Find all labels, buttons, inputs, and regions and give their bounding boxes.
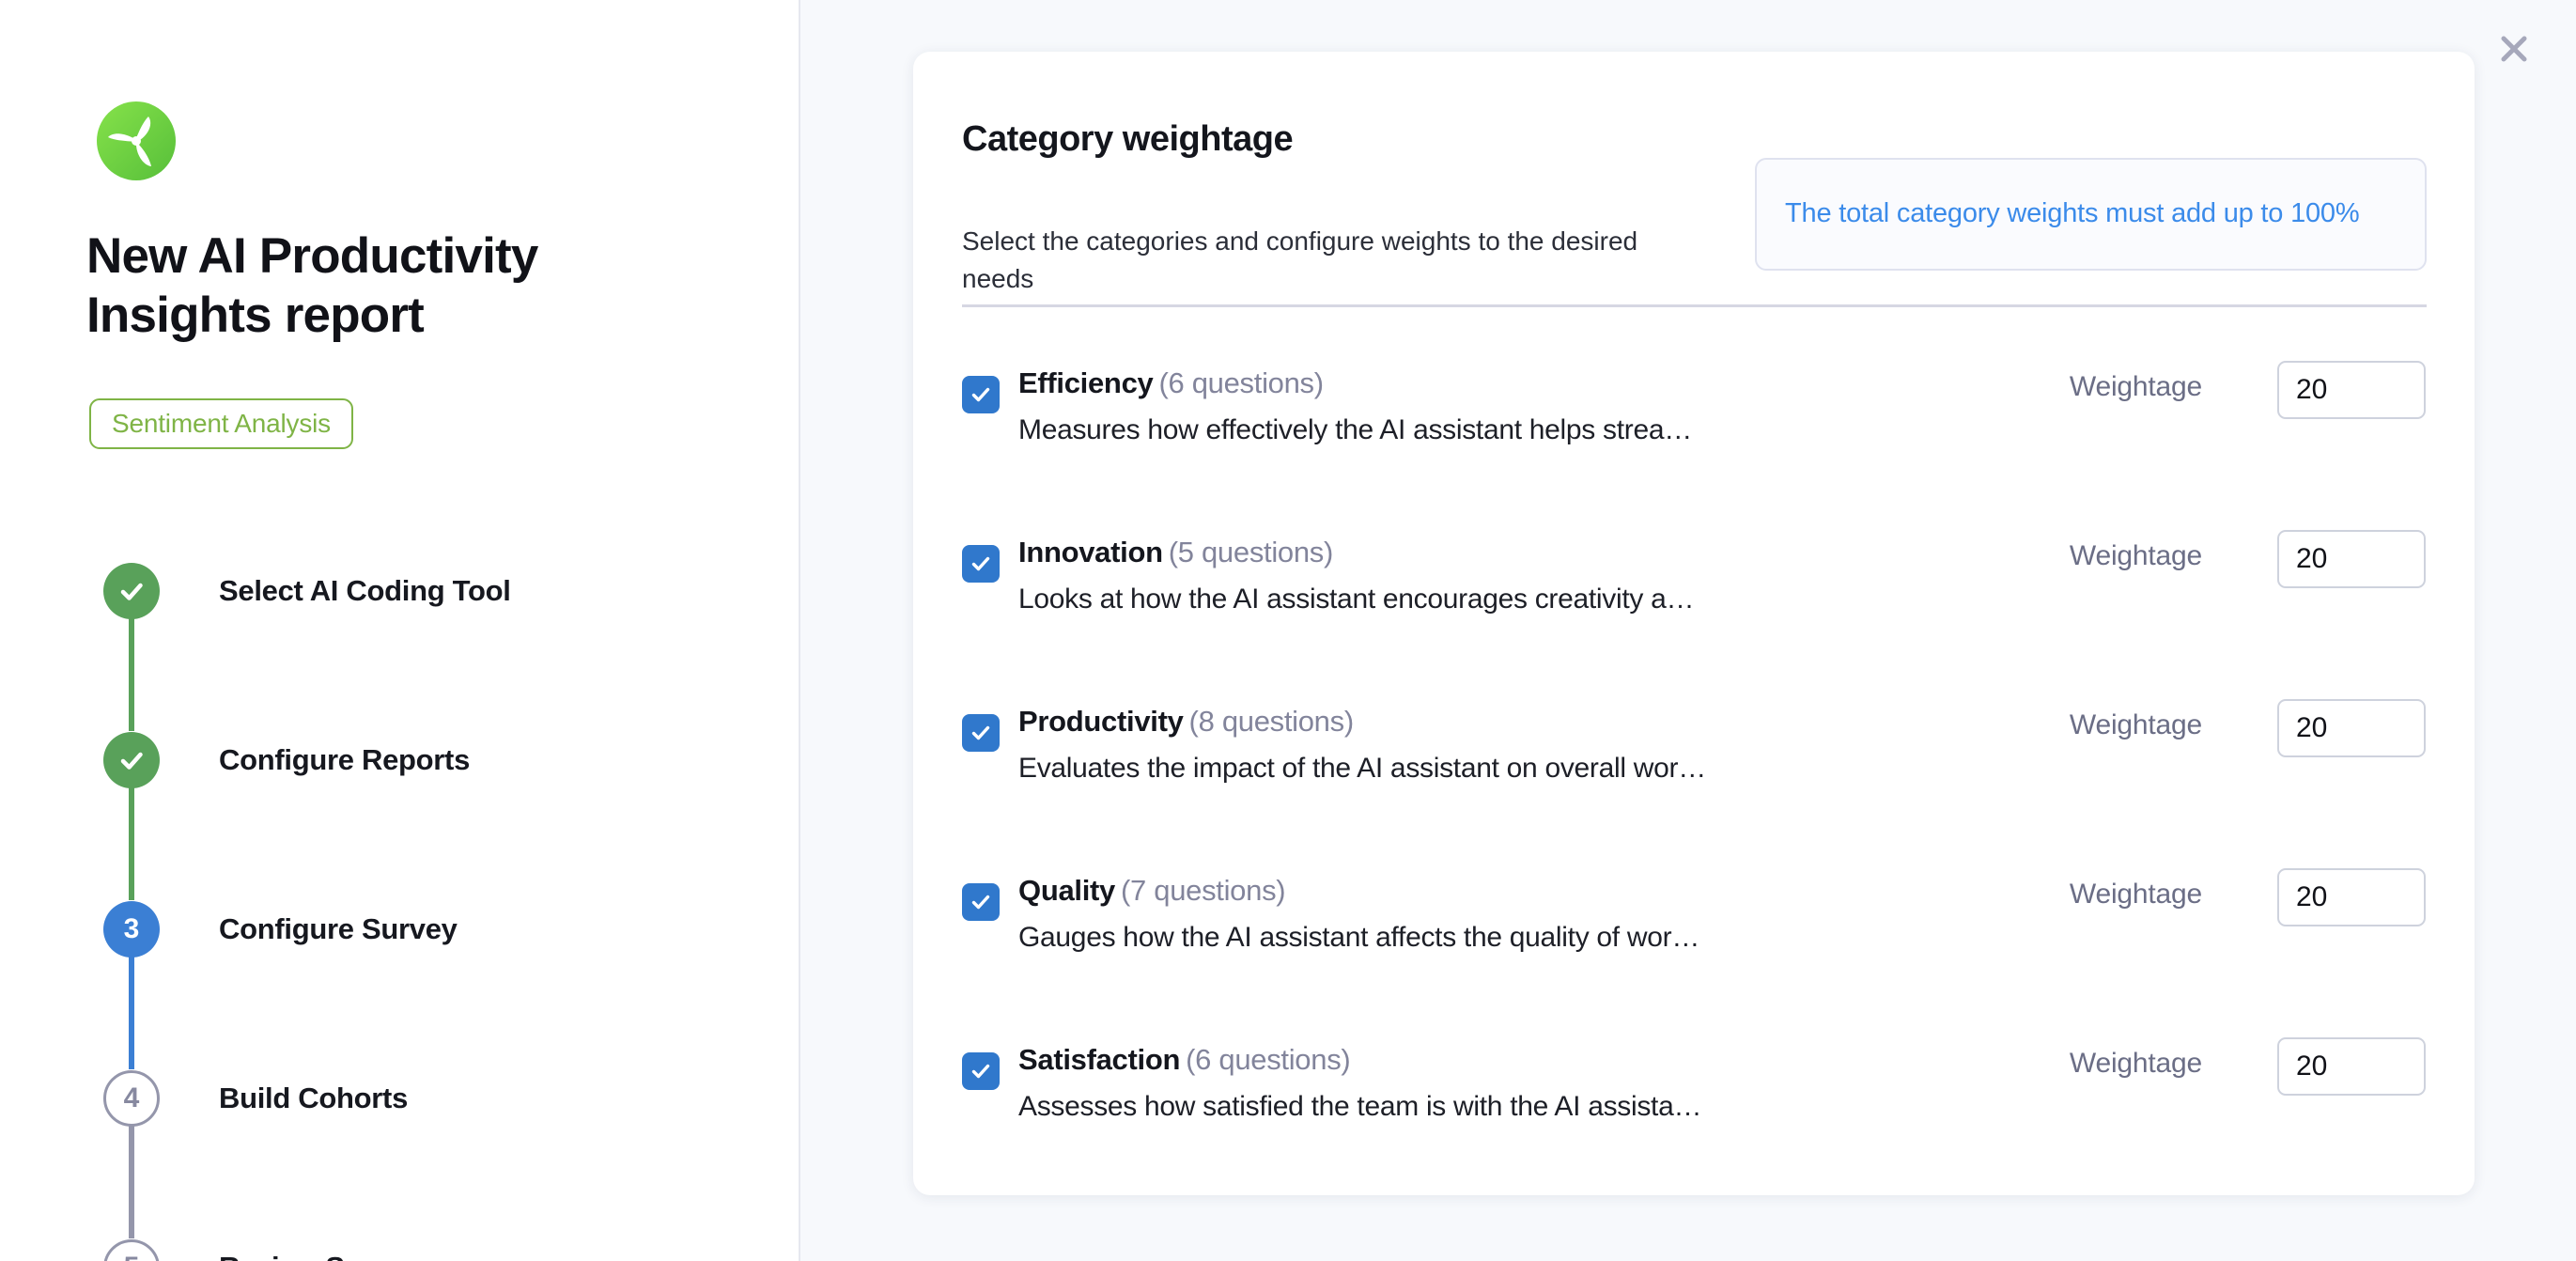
category-body: Quality(7 questions)Gauges how the AI as…	[1018, 871, 2042, 954]
category-question-count: (7 questions)	[1121, 874, 1285, 907]
step-marker-4: 4	[103, 1070, 160, 1127]
checkmark-icon	[969, 552, 993, 576]
step-connector	[129, 786, 134, 900]
category-row: Innovation(5 questions)Looks at how the …	[913, 533, 2475, 702]
category-row: Productivity(8 questions)Evaluates the i…	[913, 702, 2475, 871]
category-list: Efficiency(6 questions)Measures how effe…	[913, 364, 2475, 1209]
total-weight-note: The total category weights must add up t…	[1755, 158, 2427, 271]
category-name: Productivity	[1018, 705, 1184, 738]
step-marker-5: 5	[103, 1239, 160, 1261]
category-checkbox[interactable]	[962, 1052, 1000, 1090]
stepper-item-configure-survey[interactable]: 3Configure Survey	[103, 900, 458, 958]
stepper-item-label: Configure Reports	[219, 743, 470, 777]
weightage-input[interactable]	[2277, 530, 2426, 588]
category-heading: Productivity(8 questions)	[1018, 702, 2042, 741]
sidebar: New AI Productivity Insights report Sent…	[0, 0, 800, 1261]
header-divider	[962, 304, 2427, 307]
weightage-label: Weightage	[2070, 540, 2202, 572]
weightage-input[interactable]	[2277, 1037, 2426, 1096]
category-description: Assesses how satisfied the team is with …	[1018, 1091, 2042, 1123]
checkmark-icon	[969, 382, 993, 407]
category-question-count: (8 questions)	[1189, 705, 1354, 738]
category-body: Productivity(8 questions)Evaluates the i…	[1018, 702, 2042, 785]
step-marker-2	[103, 732, 160, 788]
category-row: Efficiency(6 questions)Measures how effe…	[913, 364, 2475, 533]
weightage-label: Weightage	[2070, 1048, 2202, 1080]
stepper-item-label: Review Summary	[219, 1251, 457, 1261]
category-name: Efficiency	[1018, 366, 1153, 399]
weightage-input[interactable]	[2277, 868, 2426, 926]
weightage-input[interactable]	[2277, 699, 2426, 757]
weightage-label: Weightage	[2070, 879, 2202, 911]
category-checkbox[interactable]	[962, 714, 1000, 752]
category-checkbox[interactable]	[962, 545, 1000, 583]
category-name: Innovation	[1018, 536, 1163, 568]
stepper-nav: Select AI Coding ToolConfigure Reports3C…	[0, 0, 800, 1261]
category-heading: Satisfaction(6 questions)	[1018, 1040, 2042, 1080]
category-name: Quality	[1018, 874, 1115, 907]
category-checkbox[interactable]	[962, 376, 1000, 413]
stepper-item-configure-reports[interactable]: Configure Reports	[103, 731, 470, 789]
category-heading: Innovation(5 questions)	[1018, 533, 2042, 572]
category-name: Satisfaction	[1018, 1043, 1180, 1076]
category-body: Innovation(5 questions)Looks at how the …	[1018, 533, 2042, 615]
category-heading: Quality(7 questions)	[1018, 871, 2042, 911]
card-subtitle: Select the categories and configure weig…	[962, 223, 1704, 298]
weightage-label: Weightage	[2070, 371, 2202, 403]
category-description: Evaluates the impact of the AI assistant…	[1018, 753, 2042, 785]
category-body: Satisfaction(6 questions)Assesses how sa…	[1018, 1040, 2042, 1123]
weightage-label: Weightage	[2070, 709, 2202, 741]
category-heading: Efficiency(6 questions)	[1018, 364, 2042, 403]
category-description: Gauges how the AI assistant affects the …	[1018, 922, 2042, 954]
stepper-item-label: Configure Survey	[219, 912, 458, 946]
check-icon	[116, 745, 147, 775]
category-row: Satisfaction(6 questions)Assesses how sa…	[913, 1040, 2475, 1209]
close-icon	[2495, 30, 2533, 68]
step-marker-3: 3	[103, 901, 160, 957]
category-checkbox[interactable]	[962, 883, 1000, 921]
total-weight-note-text: The total category weights must add up t…	[1785, 195, 2359, 233]
stepper-item-label: Select AI Coding Tool	[219, 574, 511, 608]
card-header: Category weightage	[962, 119, 2426, 160]
category-body: Efficiency(6 questions)Measures how effe…	[1018, 364, 2042, 446]
category-question-count: (6 questions)	[1186, 1043, 1350, 1076]
category-row: Quality(7 questions)Gauges how the AI as…	[913, 871, 2475, 1040]
category-description: Looks at how the AI assistant encourages…	[1018, 584, 2042, 615]
step-connector	[129, 955, 134, 1069]
card-title: Category weightage	[962, 119, 2426, 160]
check-icon	[116, 576, 147, 606]
checkmark-icon	[969, 1059, 993, 1083]
category-question-count: (5 questions)	[1169, 536, 1333, 568]
checkmark-icon	[969, 721, 993, 745]
step-marker-1	[103, 563, 160, 619]
category-question-count: (6 questions)	[1158, 366, 1323, 399]
step-connector	[129, 616, 134, 731]
step-connector	[129, 1124, 134, 1238]
category-description: Measures how effectively the AI assistan…	[1018, 414, 2042, 446]
close-button[interactable]	[2490, 24, 2538, 73]
stepper-item-label: Build Cohorts	[219, 1082, 408, 1115]
stepper-item-build-cohorts[interactable]: 4Build Cohorts	[103, 1069, 408, 1128]
stepper-item-select-ai-coding-tool[interactable]: Select AI Coding Tool	[103, 562, 511, 620]
checkmark-icon	[969, 890, 993, 914]
stepper-item-review-summary[interactable]: 5Review Summary	[103, 1238, 457, 1261]
weightage-input[interactable]	[2277, 361, 2426, 419]
category-weightage-card: Category weightage Select the categories…	[913, 52, 2475, 1195]
